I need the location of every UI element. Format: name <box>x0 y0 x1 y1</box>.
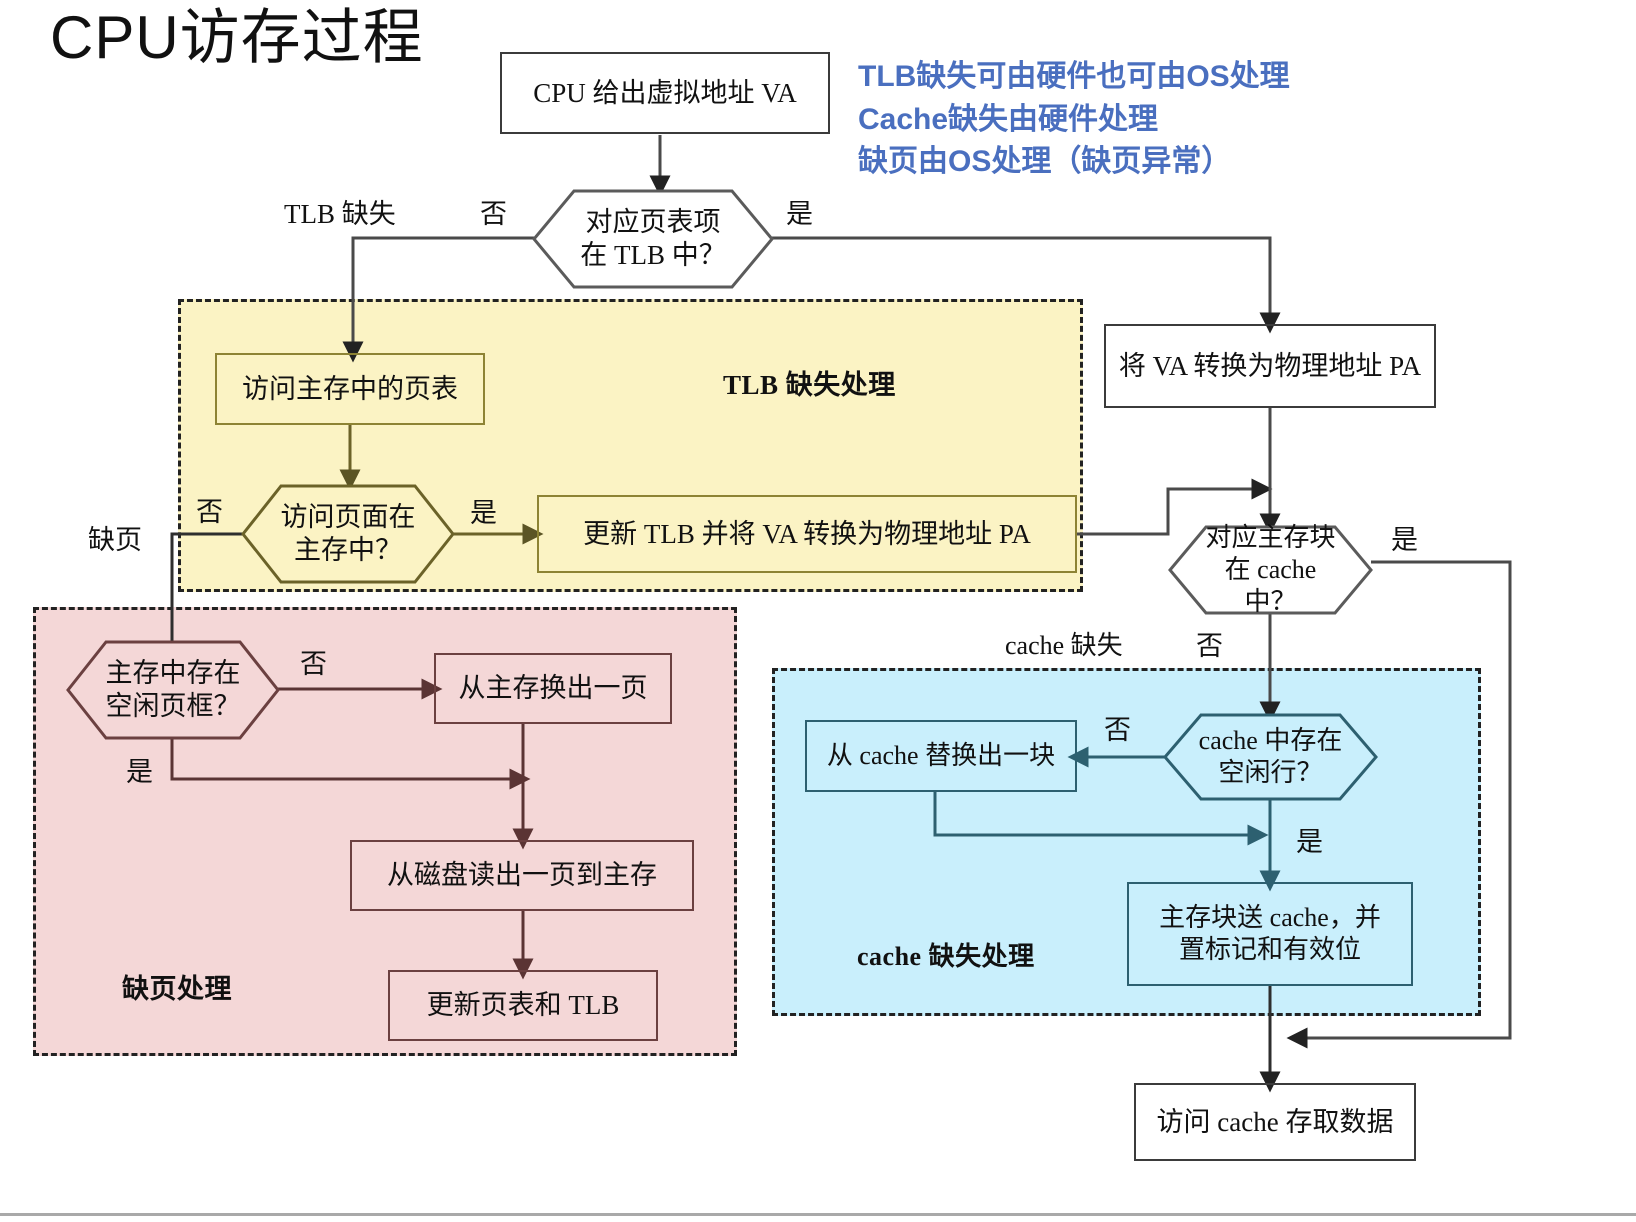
node-access-page-table[interactable]: 访问主存中的页表 <box>215 353 485 425</box>
edge-label-tlb-miss: TLB 缺失 <box>284 192 396 231</box>
node-label: 将 VA 转换为物理地址 PA <box>1119 350 1421 383</box>
node-label: cache 中存在 空闲行？ <box>1163 725 1378 788</box>
edge-label-cache-miss: cache 缺失 <box>1005 625 1123 662</box>
node-label: 主存中存在 空闲页框？ <box>66 657 280 723</box>
node-label: 更新页表和 TLB <box>427 989 620 1022</box>
node-label: 从主存换出一页 <box>459 672 648 705</box>
node-label: 对应页表项 在 TLB 中？ <box>532 206 774 272</box>
node-label: 从 cache 替换出一块 <box>827 740 1055 772</box>
node-read-page-from-disk[interactable]: 从磁盘读出一页到主存 <box>350 840 694 911</box>
edge-label-no-5: 否 <box>1104 708 1131 747</box>
node-label: 访问主存中的页表 <box>242 373 458 406</box>
node-access-cache-data[interactable]: 访问 cache 存取数据 <box>1134 1083 1416 1161</box>
note-line-3: 缺页由OS处理（缺页异常） <box>858 141 1498 184</box>
node-label: 主存块送 cache，并 置标记和有效位 <box>1159 902 1381 965</box>
edge-label-yes-1: 是 <box>786 192 813 231</box>
node-block-in-cache[interactable]: 对应主存块 在 cache 中？ <box>1168 525 1373 615</box>
edge-label-no-1: 否 <box>480 192 507 231</box>
node-label: 对应主存块 在 cache 中？ <box>1168 522 1373 617</box>
node-replace-cache-block[interactable]: 从 cache 替换出一块 <box>805 720 1077 792</box>
region-label-page: 缺页处理 <box>122 967 232 1006</box>
node-free-cache-line[interactable]: cache 中存在 空闲行？ <box>1163 713 1378 801</box>
node-page-in-main-memory[interactable]: 访问页面在 主存中？ <box>241 484 455 584</box>
node-label: 访问 cache 存取数据 <box>1157 1106 1394 1139</box>
region-label-tlb: TLB 缺失处理 <box>723 363 896 402</box>
edge-label-yes-5: 是 <box>1296 820 1323 859</box>
node-block-to-cache-set-tag[interactable]: 主存块送 cache，并 置标记和有效位 <box>1127 882 1413 986</box>
edge-label-no-2: 否 <box>196 490 223 529</box>
edge-label-yes-4: 是 <box>1391 518 1418 557</box>
note-line-2: Cache缺失由硬件处理 <box>858 99 1498 142</box>
node-pte-in-tlb[interactable]: 对应页表项 在 TLB 中？ <box>532 189 774 289</box>
node-update-tlb-translate[interactable]: 更新 TLB 并将 VA 转换为物理地址 PA <box>537 495 1077 573</box>
node-va-to-pa[interactable]: 将 VA 转换为物理地址 PA <box>1104 324 1436 408</box>
node-label: CPU 给出虚拟地址 VA <box>533 77 797 110</box>
page-title: CPU访存过程 <box>50 8 424 68</box>
note-line-1: TLB缺失可由硬件也可由OS处理 <box>858 56 1498 99</box>
node-update-pagetable-tlb[interactable]: 更新页表和 TLB <box>388 970 658 1041</box>
node-swap-out-page[interactable]: 从主存换出一页 <box>434 653 672 724</box>
edge-label-page-fault: 缺页 <box>88 518 142 557</box>
node-label: 访问页面在 主存中？ <box>241 501 455 567</box>
edge-label-no-3: 否 <box>300 642 327 681</box>
slide-divider <box>0 1213 1636 1216</box>
node-label: 更新 TLB 并将 VA 转换为物理地址 PA <box>583 518 1031 551</box>
annotation-notes: TLB缺失可由硬件也可由OS处理 Cache缺失由硬件处理 缺页由OS处理（缺页… <box>858 56 1498 184</box>
node-cpu-gives-va[interactable]: CPU 给出虚拟地址 VA <box>500 52 830 134</box>
edge-label-yes-2: 是 <box>470 491 497 530</box>
node-free-frame-exists[interactable]: 主存中存在 空闲页框？ <box>66 640 280 740</box>
region-label-cache: cache 缺失处理 <box>857 936 1035 973</box>
edge-label-no-4: 否 <box>1196 624 1223 663</box>
node-label: 从磁盘读出一页到主存 <box>387 859 657 892</box>
edge-label-yes-3: 是 <box>126 750 153 789</box>
